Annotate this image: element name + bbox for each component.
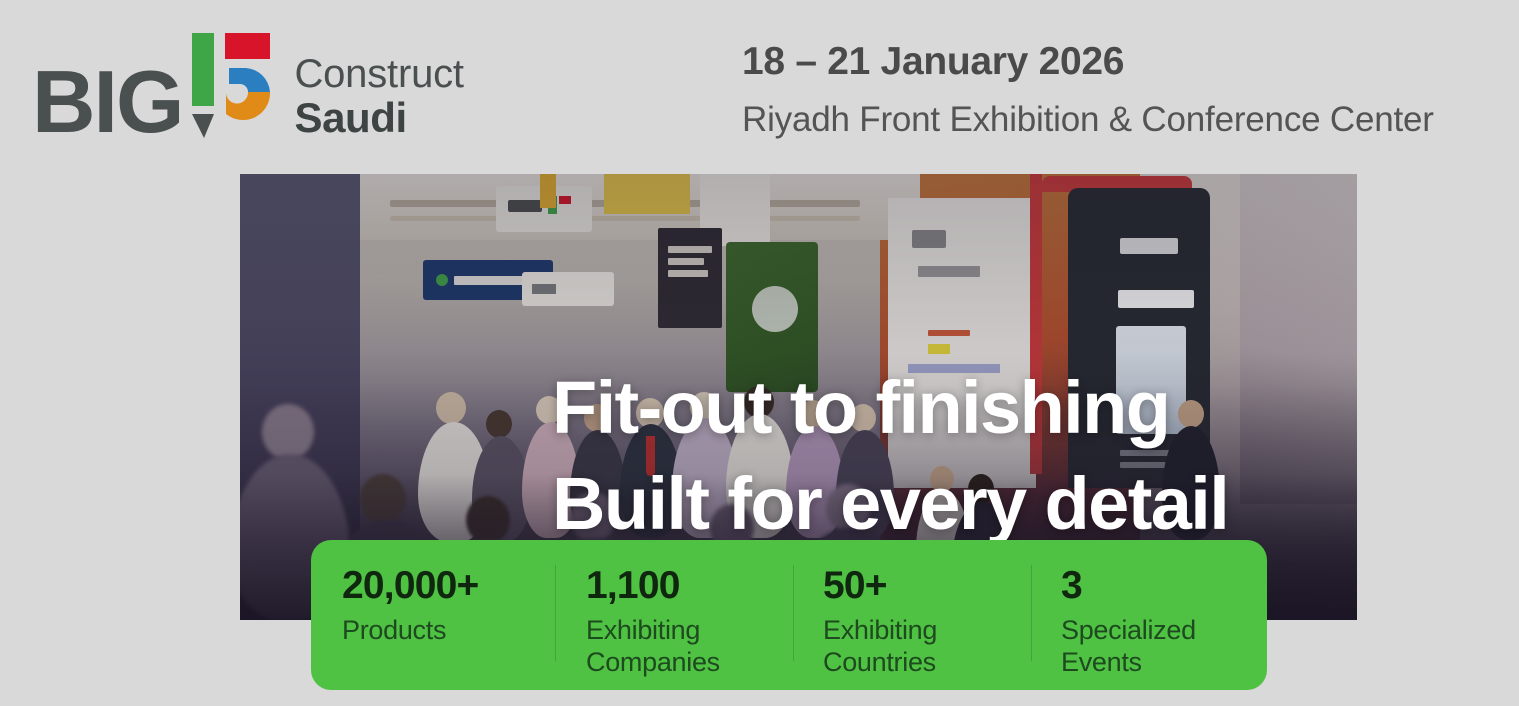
stat-value: 3 xyxy=(1061,565,1267,607)
stat-label-line-2: Companies xyxy=(586,647,793,679)
stat-label: Specialized Events xyxy=(1061,615,1267,679)
headline-line-2: Built for every detail xyxy=(552,456,1228,552)
promo-banner: BIG Construct Saudi 18 – 21 January 2026… xyxy=(0,0,1519,706)
brand-big-text: BIG xyxy=(32,60,182,144)
header: BIG Construct Saudi 18 – 21 January 2026… xyxy=(0,0,1519,174)
stat-divider xyxy=(1031,565,1032,661)
brand-wordmark: Construct Saudi xyxy=(294,53,463,140)
stat-divider xyxy=(793,565,794,661)
headline-line-1: Fit-out to finishing xyxy=(552,360,1228,456)
stat-label-line-2: Events xyxy=(1061,647,1267,679)
stat-divider xyxy=(555,565,556,661)
event-dates: 18 – 21 January 2026 xyxy=(742,38,1434,86)
stats-card: 20,000+ Products 1,100 Exhibiting Compan… xyxy=(311,540,1267,690)
stat-label-line-1: Exhibiting xyxy=(823,615,1031,647)
stat-label-line-2: Countries xyxy=(823,647,1031,679)
stat-value: 20,000+ xyxy=(342,565,555,607)
stat-specialized-events: 3 Specialized Events xyxy=(1031,540,1267,679)
stat-label-line-1: Exhibiting xyxy=(586,615,793,647)
stat-label: Products xyxy=(342,615,555,647)
stat-products: 20,000+ Products xyxy=(311,540,555,647)
brand-saudi-text: Saudi xyxy=(294,96,463,140)
stat-value: 1,100 xyxy=(586,565,793,607)
stat-label: Exhibiting Companies xyxy=(586,615,793,679)
stat-label-line-1: Specialized xyxy=(1061,615,1267,647)
stat-exhibiting-countries: 50+ Exhibiting Countries xyxy=(793,540,1031,679)
stat-value: 50+ xyxy=(823,565,1031,607)
big5-five-mark-icon xyxy=(190,30,272,142)
event-venue: Riyadh Front Exhibition & Conference Cen… xyxy=(742,99,1434,141)
event-info: 18 – 21 January 2026 Riyadh Front Exhibi… xyxy=(742,38,1434,141)
brand-construct-text: Construct xyxy=(294,53,463,96)
hero-headline: Fit-out to finishing Built for every det… xyxy=(552,360,1228,552)
stat-exhibiting-companies: 1,100 Exhibiting Companies xyxy=(555,540,793,679)
stat-label: Exhibiting Countries xyxy=(823,615,1031,679)
brand-logo[interactable]: BIG Construct Saudi xyxy=(32,28,464,144)
